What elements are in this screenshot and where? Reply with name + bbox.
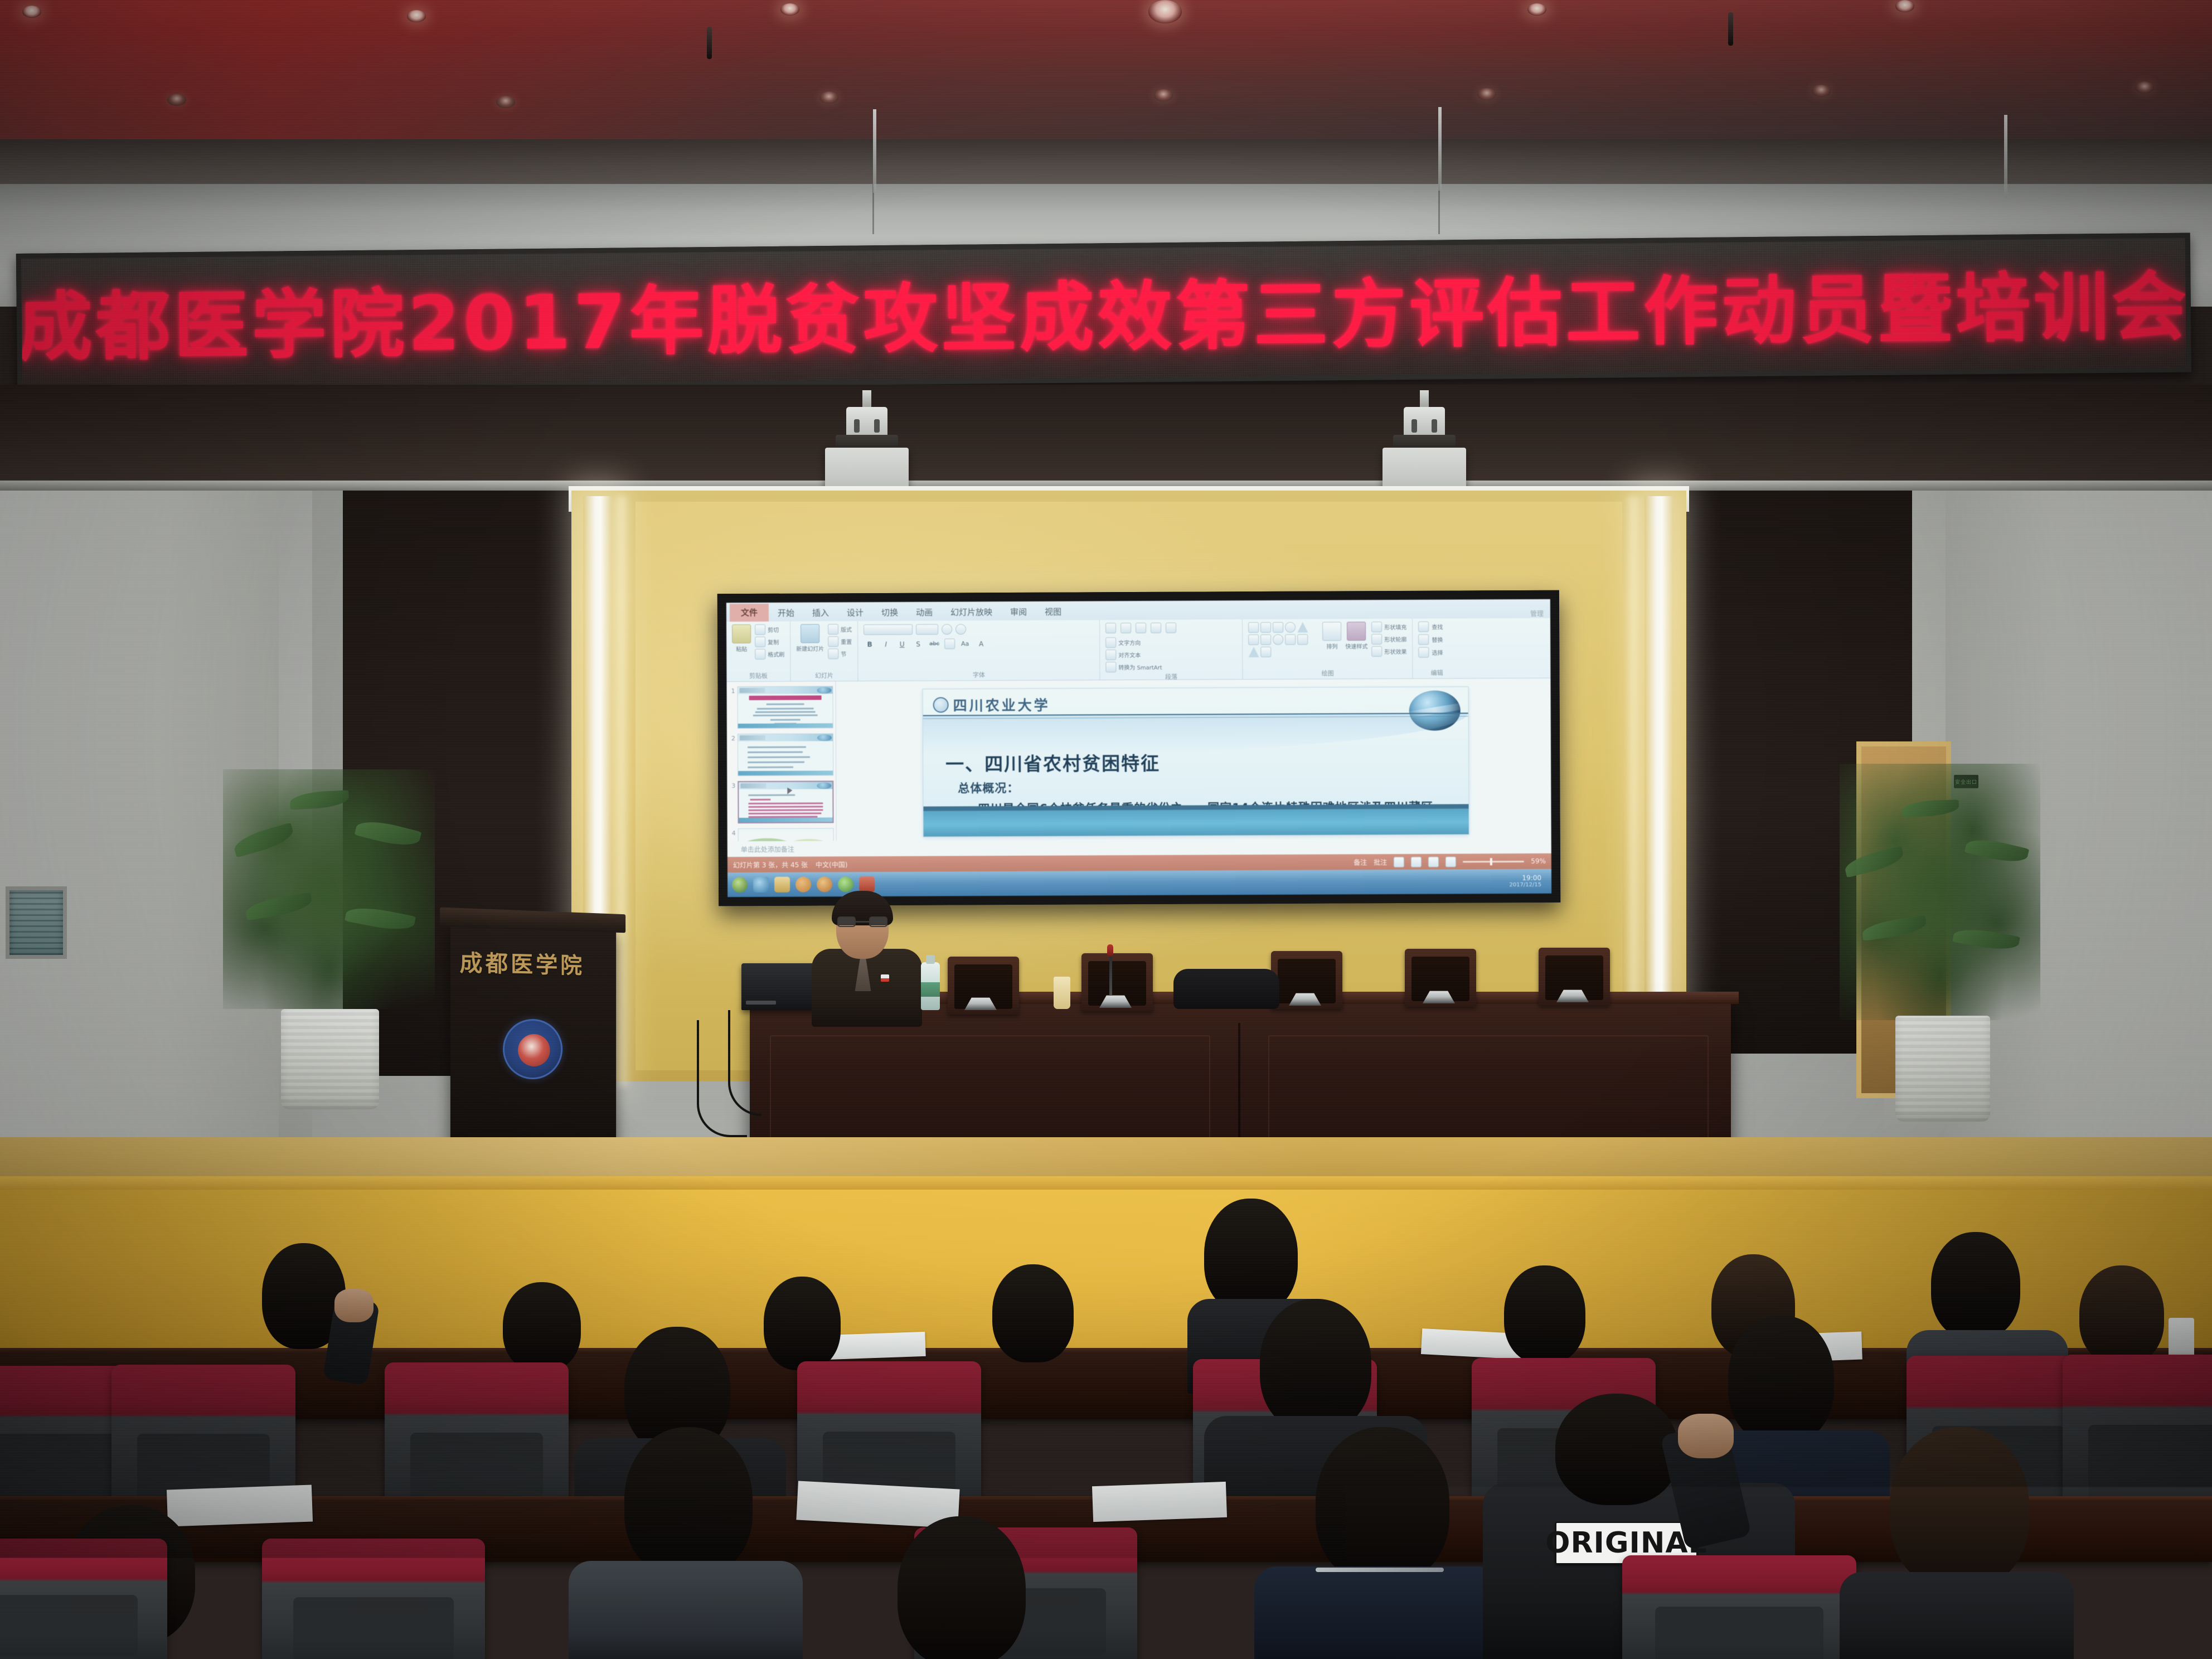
wall-vent-grille (6, 886, 67, 959)
projector-yoke (1404, 407, 1445, 438)
speaker-person (803, 891, 931, 1019)
person-collar (1316, 1568, 1444, 1572)
view-slide-sorter-icon[interactable] (1411, 856, 1422, 867)
arrange-icon (1322, 622, 1341, 641)
ceiling-downlight (1477, 88, 1496, 100)
projection-screen: 文件 开始 插入 设计 切换 动画 幻灯片放映 审阅 视图 管理 粘贴 (717, 590, 1560, 906)
ceiling-downlight (407, 10, 426, 22)
tab-view[interactable]: 视图 (1036, 604, 1070, 620)
reset-button[interactable]: 重置 (828, 636, 852, 647)
quick-styles-icon (1347, 622, 1366, 641)
bold-button[interactable]: B (864, 641, 876, 648)
shapes-icon (1261, 647, 1272, 657)
slide-footer-bar (923, 804, 1468, 836)
thumb-globe-icon (817, 734, 832, 741)
person-head (1260, 1299, 1371, 1432)
ribbon-group-font: B I U S abc Aa A 字体 (858, 620, 1100, 681)
head-table-panel (770, 1035, 1210, 1140)
replace-button[interactable]: 替换 (1418, 634, 1443, 645)
notes-toggle[interactable]: 备注 (1354, 857, 1367, 867)
person-head (2079, 1265, 2164, 1365)
align-text-button[interactable]: 对齐文本 (1105, 649, 1236, 660)
auditorium-seat (1985, 1561, 2212, 1659)
person-head (624, 1427, 753, 1578)
select-icon (1419, 647, 1429, 658)
find-icon (1418, 622, 1429, 632)
tab-file[interactable]: 文件 (730, 604, 769, 622)
thumb-logo (740, 783, 766, 788)
slide-thumbnail-panel[interactable]: 1 (726, 681, 836, 841)
glasses-lens-left (837, 916, 856, 927)
ceiling-drop-stem (707, 27, 712, 59)
audience-person (836, 1516, 1070, 1659)
text-direction-icon (1105, 637, 1116, 648)
ceiling-downlight (496, 96, 515, 108)
font-color-button[interactable]: A (975, 640, 987, 648)
shapes-gallery[interactable] (1248, 622, 1318, 658)
thumbnail-row[interactable]: 4 (730, 828, 834, 841)
ribbon-group-label: 编辑 (1419, 668, 1456, 677)
soffit (0, 385, 2212, 491)
conference-hall-photo: 成都医学院2017年脱贫攻坚成效第三方评估工作动员暨培训会 安全出口 (0, 0, 2212, 1659)
slide-thumbnail-4-map[interactable] (738, 828, 834, 841)
find-button[interactable]: 查找 (1418, 622, 1443, 632)
projector-stem (1420, 390, 1429, 409)
ceiling-hanger-rod (1438, 107, 1442, 191)
slide-org-logo: 四川农业大学 (933, 695, 1050, 715)
ceiling-downlight (819, 91, 838, 104)
layout-icon (828, 624, 838, 634)
powerpoint-icon[interactable] (859, 876, 875, 892)
current-slide[interactable]: 四川农业大学 一、四川省农村贫困特征 总体概况： 四川是全国6个扶贫任务最重的省… (923, 686, 1469, 837)
taskbar-clock[interactable]: 19:00 2017/12/15 (1509, 875, 1547, 888)
new-slide-button[interactable]: 新建幻灯片 (796, 624, 824, 652)
character-spacing-icon[interactable] (944, 638, 955, 649)
ribbon-group-label: 绘图 (1249, 668, 1407, 678)
shape-outline-icon (1371, 634, 1382, 644)
shapes-icon (1248, 634, 1259, 645)
audience-person (981, 1264, 1098, 1381)
laptop-bag (1173, 969, 1279, 1009)
ceiling-downlight (167, 94, 186, 106)
lectern: 成都医学院 (450, 923, 616, 1173)
ribbon-group-paragraph: 文字方向 对齐文本 转换为 SmartArt 段落 (1100, 619, 1243, 680)
shape-fill-button[interactable]: 形状填充 (1371, 622, 1406, 632)
slide-org-name: 四川农业大学 (953, 695, 1050, 715)
decrease-indent-icon[interactable] (1136, 623, 1146, 633)
paste-button[interactable]: 粘贴 (732, 624, 751, 653)
thumb-footer (738, 723, 833, 728)
view-reading-icon[interactable] (1428, 856, 1439, 867)
person-head (992, 1264, 1074, 1362)
shapes-icon (1248, 622, 1259, 633)
format-painter-button[interactable]: 格式刷 (755, 649, 784, 659)
strikethrough-button[interactable]: abc (928, 641, 940, 647)
auditorium-seat (0, 1539, 167, 1659)
person-head (898, 1516, 1026, 1659)
ceiling-downlight (2135, 81, 2154, 94)
ribbon-group-label: 字体 (864, 670, 1094, 680)
potted-plant-left (223, 769, 435, 1137)
thumb-map-graphic (739, 832, 833, 841)
person-head (1931, 1232, 2020, 1339)
ribbon-group-drawing: 排列 快速样式 形状填充 (1243, 619, 1413, 679)
thumbnail-number: 3 (729, 781, 735, 789)
slide-thumbnail-2[interactable] (738, 733, 833, 776)
zoom-level[interactable]: 59% (1531, 857, 1546, 865)
shape-effects-button[interactable]: 形状效果 (1372, 646, 1407, 657)
quick-access-label[interactable]: 管理 (1530, 609, 1550, 618)
notes-placeholder: 单击此处添加备注 (741, 844, 794, 853)
auditorium-seat (262, 1539, 485, 1659)
thumbnail-number: 1 (729, 686, 735, 695)
quick-styles-button[interactable]: 快速样式 (1345, 622, 1367, 650)
tab-animations[interactable]: 动画 (907, 604, 942, 621)
shapes-icon (1285, 634, 1296, 645)
chat-app-icon[interactable] (838, 876, 853, 892)
underline-button[interactable]: U (896, 640, 908, 648)
tab-home[interactable]: 开始 (769, 605, 803, 622)
thumbnail-number: 2 (729, 734, 735, 742)
ceiling-downlight (1148, 0, 1182, 23)
speaker-glasses-icon (837, 916, 887, 928)
shapes-icon (1297, 622, 1308, 633)
shapes-icon (1260, 634, 1271, 645)
reset-icon (828, 636, 838, 647)
format-painter-icon (755, 649, 765, 659)
increase-font-size-icon[interactable] (942, 624, 952, 634)
ceiling-downlight (1812, 85, 1831, 97)
thumb-footer (738, 770, 833, 775)
led-banner-screen: 成都医学院2017年脱贫攻坚成效第三方评估工作动员暨培训会 (21, 238, 2186, 388)
slide-thumbnail-1[interactable] (738, 686, 833, 729)
text-shadow-button[interactable]: S (912, 640, 924, 648)
smartart-icon (1105, 662, 1116, 672)
numbering-icon[interactable] (1120, 623, 1131, 633)
thumbnail-row[interactable]: 3 (729, 780, 833, 823)
cut-button[interactable]: 剪切 (755, 624, 784, 635)
glasses-lens-right (869, 916, 887, 927)
ppt-work-area: 1 (726, 678, 1551, 841)
university-emblem-icon (503, 1019, 562, 1080)
tab-review[interactable]: 审阅 (1001, 604, 1036, 620)
clock-time: 19:00 (1509, 875, 1541, 882)
thumb-title-bar (749, 695, 821, 700)
view-normal-icon[interactable] (1394, 856, 1404, 867)
tab-transitions[interactable]: 切换 (872, 604, 907, 621)
smartart-button[interactable]: 转换为 SmartArt (1105, 661, 1236, 672)
stage-floor-reflection (0, 1137, 2212, 1182)
shapes-icon (1260, 622, 1271, 633)
media-player-icon[interactable] (795, 877, 811, 892)
new-slide-icon (801, 624, 819, 643)
shape-effects-icon (1372, 646, 1382, 657)
water-bottle (921, 962, 940, 1010)
ceiling-downlight (1154, 89, 1173, 101)
align-text-icon (1105, 649, 1116, 660)
shapes-icon (1273, 634, 1283, 645)
increase-indent-icon[interactable] (1151, 623, 1161, 633)
plant-pot (281, 1009, 379, 1109)
shapes-icon (1297, 634, 1308, 645)
thumbnail-row[interactable]: 2 (729, 733, 833, 776)
font-size-combobox[interactable] (916, 624, 938, 634)
ceiling-downlight (1527, 3, 1546, 16)
person-head (1204, 1199, 1298, 1313)
mouse-cursor-icon (788, 788, 793, 794)
auditorium-seat (1622, 1555, 1856, 1659)
shapes-icon (1285, 622, 1296, 633)
thumb-logo (740, 735, 765, 740)
ceiling-downlight (780, 3, 799, 16)
section-icon (828, 648, 838, 659)
slide-thumbnail-3-selected[interactable] (738, 780, 833, 823)
projector-stem (862, 390, 871, 409)
university-seal-icon (933, 697, 949, 712)
glasses-bridge (856, 921, 869, 923)
paper-cup (1054, 977, 1070, 1009)
shape-outline-button[interactable]: 形状轮廓 (1371, 634, 1406, 644)
led-banner-text: 成都医学院2017年脱贫攻坚成效第三方评估工作动员暨培训会 (21, 246, 2186, 375)
audience-person (1254, 1427, 1500, 1659)
plant-pot (1895, 1016, 1990, 1122)
slide-counter: 幻灯片第 3 张，共 45 张 (733, 860, 808, 870)
browser-alt-icon[interactable] (817, 876, 832, 892)
slide-editing-stage: 四川农业大学 一、四川省农村贫困特征 总体概况： 四川是全国6个扶贫任务最重的省… (836, 678, 1551, 841)
projector-yoke (846, 407, 887, 438)
italic-button[interactable]: I (880, 640, 892, 648)
ribbon-group-editing: 查找 替换 选择 编辑 (1413, 618, 1461, 678)
ceiling-hanger-rod (2004, 115, 2007, 198)
copy-button[interactable]: 复制 (755, 637, 784, 647)
potted-plant-right (1840, 764, 2040, 1143)
replace-icon (1418, 634, 1429, 645)
ceiling-downlight (1895, 0, 1914, 12)
line-spacing-icon[interactable] (1166, 623, 1176, 633)
speaker-lapel-badge (881, 974, 889, 982)
slide-title: 一、四川省农村贫困特征 (945, 749, 1160, 777)
ceiling-drop-stem (1728, 12, 1733, 46)
scissors-icon (755, 624, 765, 635)
stage-edge-lip (0, 1176, 2212, 1191)
clock-date: 2017/12/15 (1509, 882, 1541, 888)
person-head (1555, 1394, 1678, 1505)
person-head (1504, 1265, 1585, 1364)
ceiling-downlight (22, 6, 41, 18)
text-direction-button[interactable]: 文字方向 (1105, 637, 1236, 648)
shapes-icon (1249, 647, 1259, 657)
audience-person (569, 1427, 803, 1659)
led-banner: 成都医学院2017年脱贫攻坚成效第三方评估工作动员暨培训会 (16, 233, 2191, 393)
person-hand (1678, 1414, 1734, 1458)
comments-toggle[interactable]: 批注 (1374, 857, 1387, 867)
person-torso (569, 1561, 803, 1659)
folder-icon[interactable] (774, 877, 790, 892)
power-cable (697, 1020, 747, 1137)
thumb-logo (740, 688, 765, 693)
person-torso (1254, 1566, 1500, 1659)
change-case-button[interactable]: Aa (959, 640, 971, 647)
ribbon: 粘贴 剪切 复制 (726, 618, 1550, 682)
view-slideshow-icon[interactable] (1445, 856, 1456, 867)
person-hand (334, 1289, 373, 1322)
thumb-globe-icon (817, 782, 831, 789)
layout-button[interactable]: 版式 (828, 624, 852, 634)
section-button[interactable]: 节 (828, 648, 852, 659)
arrange-button[interactable]: 排列 (1322, 622, 1341, 650)
head-table-panel (1268, 1035, 1709, 1140)
language-indicator[interactable]: 中文(中国) (816, 860, 847, 869)
ribbon-group-clipboard: 粘贴 剪切 复制 (726, 622, 790, 682)
start-orb-icon[interactable] (732, 877, 748, 892)
decrease-font-size-icon[interactable] (955, 624, 966, 634)
handout-paper (1092, 1482, 1227, 1522)
ribbon-group-slides: 新建幻灯片 版式 重置 (790, 621, 858, 681)
zoom-slider[interactable] (1463, 860, 1524, 862)
microphone-gooseneck (1109, 954, 1112, 996)
shapes-icon (1273, 622, 1283, 633)
thumb-footer (739, 817, 833, 822)
powerpoint-window: 文件 开始 插入 设计 切换 动画 幻灯片放映 审阅 视图 管理 粘贴 (726, 599, 1551, 897)
ribbon-group-label: 剪贴板 (732, 671, 784, 680)
tab-design[interactable]: 设计 (838, 604, 872, 621)
paste-icon (732, 624, 751, 643)
select-button[interactable]: 选择 (1419, 647, 1443, 658)
font-name-combobox[interactable] (864, 624, 913, 634)
lectern-institution-name: 成都医学院 (459, 944, 608, 980)
slide-subtitle: 总体概况： (958, 779, 1019, 796)
ceiling-hanger-rod (873, 109, 876, 193)
thumb-globe-icon (817, 687, 832, 693)
paper-cup (2169, 1318, 2194, 1360)
thumbnail-number: 4 (730, 828, 736, 837)
shape-fill-icon (1371, 622, 1382, 632)
thumbnail-row[interactable]: 1 (729, 686, 833, 729)
head-table-seam (1238, 1023, 1240, 1153)
person-head (1316, 1427, 1449, 1583)
tab-slideshow[interactable]: 幻灯片放映 (942, 604, 1001, 620)
microphone-head-icon (1107, 944, 1113, 957)
copy-icon (755, 637, 765, 647)
ribbon-group-label: 幻灯片 (796, 671, 852, 680)
browser-icon[interactable] (753, 877, 769, 892)
bullets-icon[interactable] (1105, 623, 1116, 633)
person-head (503, 1282, 581, 1371)
tab-insert[interactable]: 插入 (803, 604, 838, 621)
